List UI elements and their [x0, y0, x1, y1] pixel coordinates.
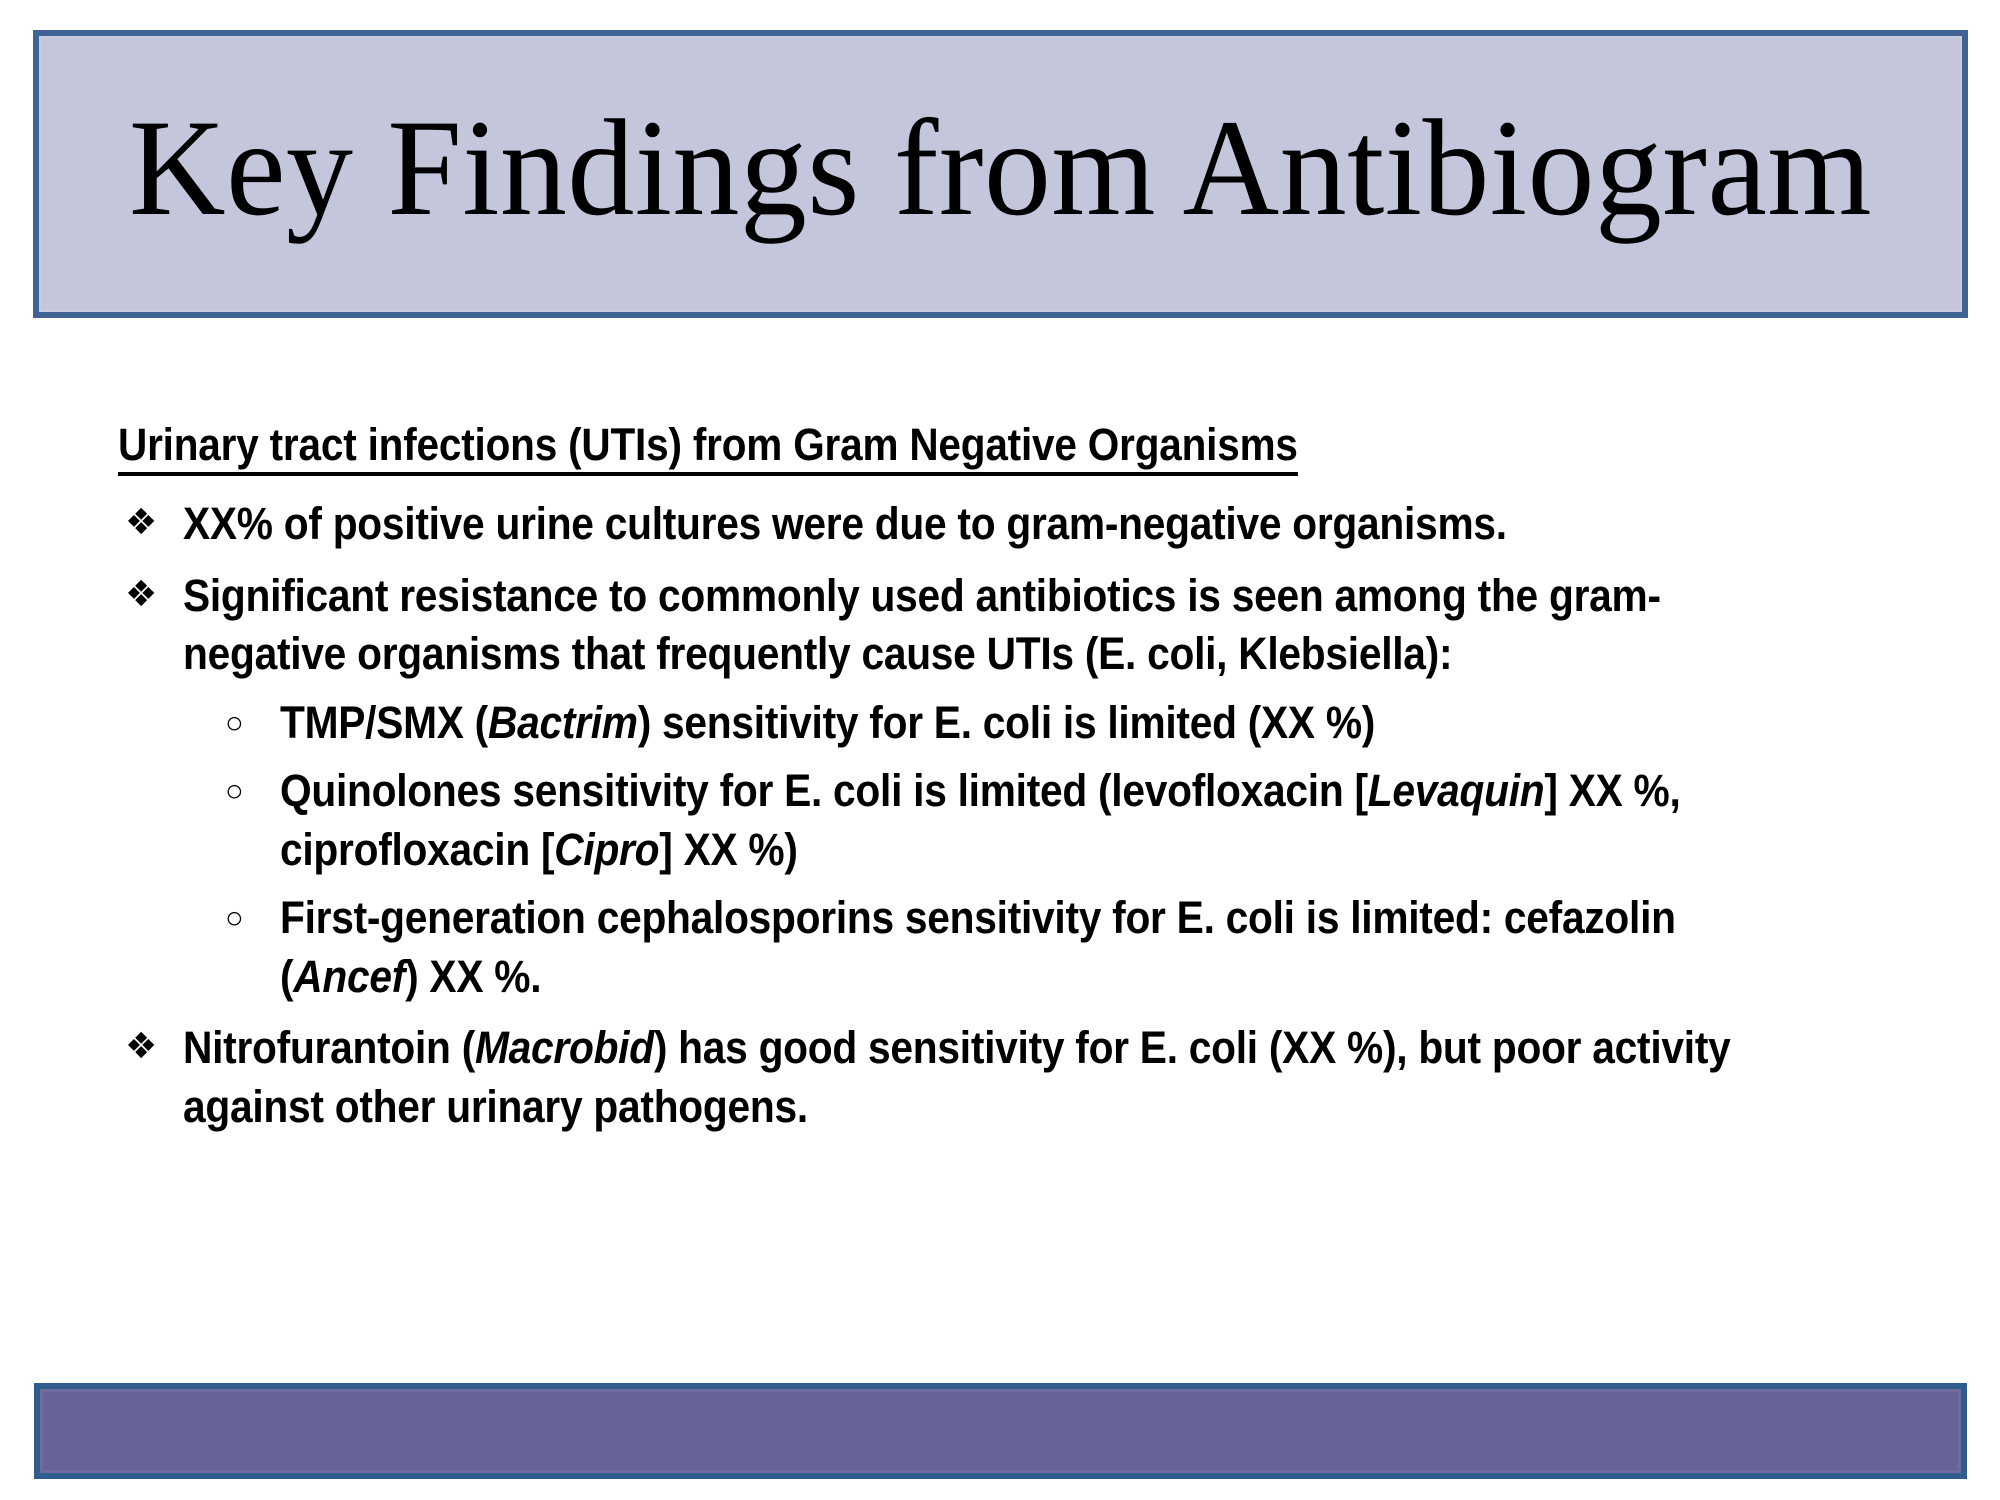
bullet-text-run: ) XX %.: [405, 951, 541, 1002]
diamond-bullet-icon: ❖: [125, 495, 183, 547]
drug-trade-name: Bactrim: [488, 697, 638, 748]
section-heading: Urinary tract infections (UTIs) from Gra…: [118, 418, 1298, 476]
circle-bullet-icon: ○: [225, 889, 280, 938]
bullet-item-level-2: ○Quinolones sensitivity for E. coli is l…: [100, 762, 1920, 879]
bullet-item-level-1: ❖XX% of positive urine cultures were due…: [100, 495, 1920, 554]
bullet-text: First-generation cephalosporins sensitiv…: [280, 889, 1764, 1006]
bullet-text: Quinolones sensitivity for E. coli is li…: [280, 762, 1764, 879]
footer-bar: [34, 1383, 1967, 1479]
circle-bullet-icon: ○: [225, 694, 280, 743]
bullet-text: Significant resistance to commonly used …: [183, 567, 1755, 684]
bullet-item-level-2: ○First-generation cephalosporins sensiti…: [100, 889, 1920, 1006]
diamond-bullet-icon: ❖: [125, 567, 183, 619]
drug-trade-name: Cipro: [554, 824, 659, 875]
slide-title-banner: Key Findings from Antibiogram: [33, 30, 1968, 318]
diamond-bullet-icon: ❖: [125, 1019, 183, 1071]
bullet-item-level-1: ❖Nitrofurantoin (Macrobid) has good sens…: [100, 1019, 1920, 1136]
drug-trade-name: Ancef: [293, 951, 405, 1002]
bullet-item-level-1: ❖Significant resistance to commonly used…: [100, 567, 1920, 684]
sub-bullet-list: ○TMP/SMX (Bactrim) sensitivity for E. co…: [100, 694, 1920, 1007]
drug-trade-name: Levaquin: [1368, 765, 1545, 816]
bullet-text-run: Quinolones sensitivity for E. coli is li…: [280, 765, 1368, 816]
bullet-text-run: TMP/SMX (: [280, 697, 488, 748]
drug-trade-name: Macrobid: [475, 1022, 654, 1073]
page-title: Key Findings from Antibiogram: [129, 99, 1872, 249]
bullet-text-run: ] XX %): [659, 824, 797, 875]
bullet-text: XX% of positive urine cultures were due …: [183, 495, 1755, 554]
slide-body: Urinary tract infections (UTIs) from Gra…: [100, 418, 1920, 1136]
bullet-text: TMP/SMX (Bactrim) sensitivity for E. col…: [280, 694, 1764, 753]
bullet-text: Nitrofurantoin (Macrobid) has good sensi…: [183, 1019, 1755, 1136]
bullet-text-run: Nitrofurantoin (: [183, 1022, 475, 1073]
circle-bullet-icon: ○: [225, 762, 280, 811]
bullet-list: ❖XX% of positive urine cultures were due…: [100, 495, 1920, 1136]
sub-bullet-group: ○TMP/SMX (Bactrim) sensitivity for E. co…: [100, 694, 1920, 1007]
bullet-text-run: Significant resistance to commonly used …: [183, 570, 1661, 680]
bullet-text-run: XX% of positive urine cultures were due …: [183, 498, 1507, 549]
bullet-item-level-2: ○TMP/SMX (Bactrim) sensitivity for E. co…: [100, 694, 1920, 753]
bullet-text-run: ) sensitivity for E. coli is limited (XX…: [638, 697, 1375, 748]
